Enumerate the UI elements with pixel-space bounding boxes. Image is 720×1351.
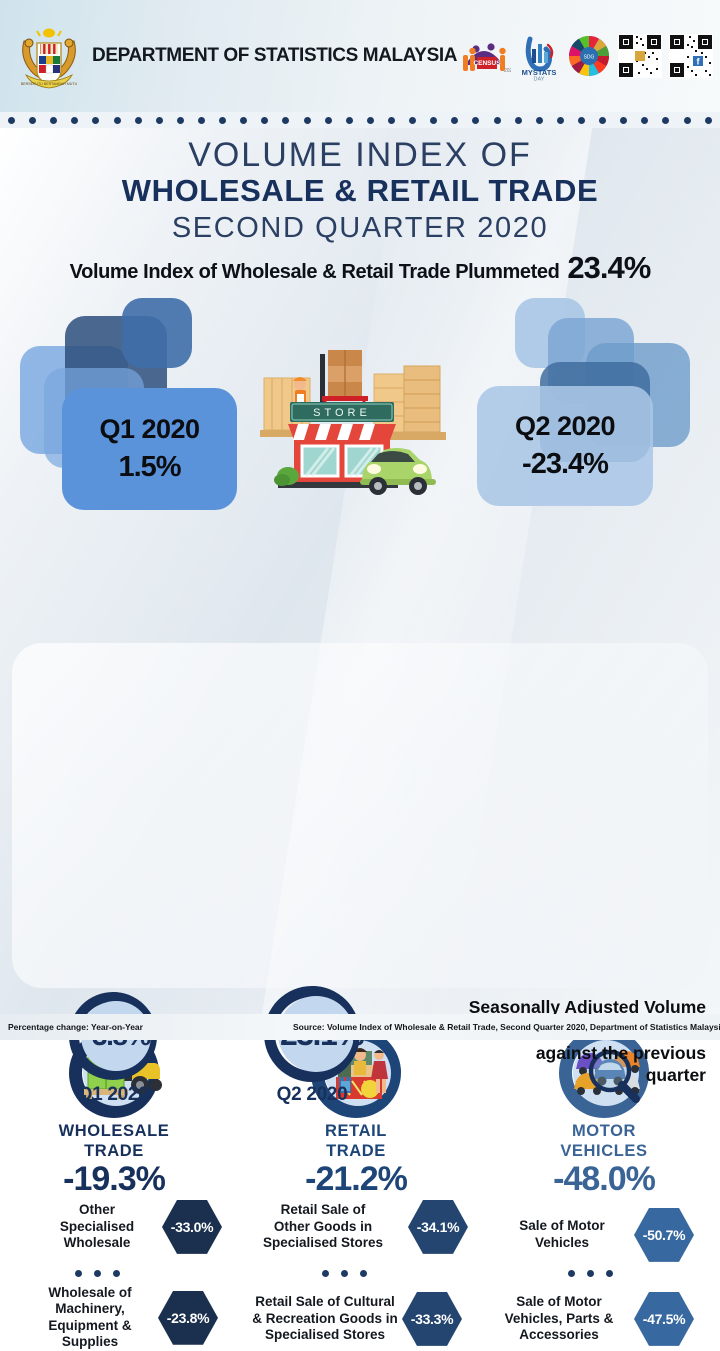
subcategory-row: Sale of Motor Vehicles, Parts & Accessor… xyxy=(484,1291,706,1347)
divider-dot xyxy=(135,117,142,124)
svg-text:CENSUS: CENSUS xyxy=(474,60,502,67)
separator-dots xyxy=(75,1270,120,1277)
q1-label: Q1 2020 xyxy=(99,414,199,445)
divider-dot xyxy=(325,117,332,124)
dot xyxy=(113,1270,120,1277)
subcategory-hexagon: -33.0% xyxy=(162,1199,222,1255)
subcategory-value: -50.7% xyxy=(643,1227,686,1243)
divider-dot xyxy=(684,117,691,124)
subcategory-row: Retail Sale of Other Goods in Specialise… xyxy=(240,1199,475,1255)
quarter-comparison: Q1 2020 1.5% xyxy=(0,298,720,513)
svg-text:2020: 2020 xyxy=(504,68,511,74)
header-logo-group: CENSUS 2020 MYSTATS DAY xyxy=(457,30,720,82)
title-block: VOLUME INDEX OF WHOLESALE & RETAIL TRADE… xyxy=(0,128,720,286)
label-line: Vehicles xyxy=(492,1235,632,1251)
subcategory-label: Other Specialised Wholesale xyxy=(36,1202,158,1251)
sa-text-line: quarter xyxy=(388,1064,706,1087)
label-line: Vehicles, Parts & xyxy=(484,1311,634,1327)
label-line: Machinery, xyxy=(26,1301,154,1317)
seasonally-adjusted-text: Seasonally Adjusted Volume Index plunged… xyxy=(388,996,706,1087)
q2-label: Q2 2020 xyxy=(515,411,615,442)
dot xyxy=(94,1270,101,1277)
divider-dot xyxy=(515,117,522,124)
title-line-1: VOLUME INDEX OF xyxy=(0,136,720,174)
divider-dot xyxy=(557,117,564,124)
dot xyxy=(75,1270,82,1277)
category-name-line2: TRADE xyxy=(0,1143,234,1161)
qr-code-2: f xyxy=(669,34,713,78)
label-line: Specialised Stores xyxy=(240,1235,406,1251)
headline-row: Volume Index of Wholesale & Retail Trade… xyxy=(0,250,720,286)
footer-note: Percentage change: Year-on-Year xyxy=(0,1022,143,1032)
divider-dot xyxy=(494,117,501,124)
divider-dot xyxy=(599,117,606,124)
subcategory-label: Retail Sale of Other Goods in Specialise… xyxy=(240,1202,406,1251)
infographic-body: VOLUME INDEX OF WHOLESALE & RETAIL TRADE… xyxy=(0,128,720,1040)
label-line: Equipment & xyxy=(26,1318,154,1334)
divider-dot xyxy=(156,117,163,124)
label-line: Sale of Motor xyxy=(492,1218,632,1234)
subcategory-value: -34.1% xyxy=(417,1219,460,1235)
divider-dot xyxy=(71,117,78,124)
label-line: Supplies xyxy=(26,1334,154,1350)
subcategory-hexagon: -34.1% xyxy=(408,1199,468,1255)
subcategory-value: -33.0% xyxy=(171,1219,214,1235)
store-warehouse-car-illustration: STORE xyxy=(252,336,452,496)
mystats-day-logo: MYSTATS DAY xyxy=(518,31,560,81)
divider-dot xyxy=(472,117,479,124)
divider-dot xyxy=(282,117,289,124)
footer-source: Source: Volume Index of Wholesale & Reta… xyxy=(293,1022,720,1032)
divider-dot xyxy=(346,117,353,124)
divider-dot xyxy=(662,117,669,124)
label-line: Wholesale of xyxy=(26,1285,154,1301)
page-header: BERSEKUTU BERTAMBAH MUTU DEPARTMENT OF S… xyxy=(0,0,720,112)
divider-dot xyxy=(29,117,36,124)
category-name-line2: TRADE xyxy=(236,1143,476,1161)
page-footer: Percentage change: Year-on-Year Source: … xyxy=(0,1014,720,1040)
subcategory-value: -47.5% xyxy=(643,1311,686,1327)
divider-dot xyxy=(219,117,226,124)
subcategory-row: Sale of Motor Vehicles -50.7% xyxy=(492,1207,706,1263)
subcategory-hexagon: -23.8% xyxy=(158,1290,218,1346)
headline-text: Volume Index of Wholesale & Retail Trade… xyxy=(70,261,560,284)
separator-dots xyxy=(322,1270,367,1277)
q2-value: -23.4% xyxy=(522,448,608,481)
dot xyxy=(568,1270,575,1277)
divider-dot xyxy=(304,117,311,124)
label-line: Other Goods in xyxy=(240,1219,406,1235)
category-name-line1: RETAIL xyxy=(236,1123,476,1141)
divider-dot xyxy=(620,117,627,124)
category-value: -48.0% xyxy=(484,1162,720,1198)
category-value: -19.3% xyxy=(0,1162,234,1198)
subcategory-value: -23.8% xyxy=(167,1310,210,1326)
divider-dot xyxy=(261,117,268,124)
divider-dot xyxy=(367,117,374,124)
svg-text:STORE: STORE xyxy=(313,407,371,419)
divider-dot xyxy=(50,117,57,124)
divider-dot xyxy=(8,117,15,124)
category-name-line1: WHOLESALE xyxy=(0,1123,234,1141)
seasonally-adjusted-q1: -3.8% Q1 2020 xyxy=(48,990,178,1106)
divider-dot xyxy=(536,117,543,124)
subcategory-hexagon: -50.7% xyxy=(634,1207,694,1263)
label-line: Specialised xyxy=(36,1219,158,1235)
headline-value: 23.4% xyxy=(567,250,650,286)
subcategory-row: Wholesale of Machinery, Equipment & Supp… xyxy=(26,1285,236,1351)
svg-text:DAY: DAY xyxy=(534,77,545,82)
dot xyxy=(322,1270,329,1277)
label-line: Specialised Stores xyxy=(234,1327,416,1343)
divider-dot xyxy=(705,117,712,124)
subcategory-label: Sale of Motor Vehicles, Parts & Accessor… xyxy=(484,1294,634,1343)
divider-dot xyxy=(240,117,247,124)
subcategory-label: Wholesale of Machinery, Equipment & Supp… xyxy=(26,1285,154,1351)
svg-text:SDG: SDG xyxy=(584,55,595,61)
dotted-divider xyxy=(0,112,720,128)
malaysia-coat-of-arms-icon: BERSEKUTU BERTAMBAH MUTU xyxy=(10,23,88,89)
q2-sa-caption: Q2 2020 xyxy=(232,1084,392,1106)
census-2020-logo: CENSUS 2020 xyxy=(457,31,511,81)
divider-dot xyxy=(409,117,416,124)
title-line-2: WHOLESALE & RETAIL TRADE xyxy=(0,174,720,209)
label-line: Retail Sale of xyxy=(240,1202,406,1218)
divider-dot xyxy=(388,117,395,124)
category-panel xyxy=(12,643,708,988)
svg-text:BERSEKUTU BERTAMBAH MUTU: BERSEKUTU BERTAMBAH MUTU xyxy=(21,82,78,86)
subcategory-value: -33.3% xyxy=(411,1311,454,1327)
subcategory-row: Retail Sale of Cultural & Recreation Goo… xyxy=(234,1291,476,1347)
category-value: -21.2% xyxy=(236,1162,476,1198)
department-title: DEPARTMENT OF STATISTICS MALAYSIA xyxy=(92,45,457,67)
subcategory-row: Other Specialised Wholesale -33.0% xyxy=(36,1199,236,1255)
divider-dot xyxy=(177,117,184,124)
q2-card: Q2 2020 -23.4% xyxy=(477,386,653,506)
category-name-line2: VEHICLES xyxy=(484,1143,720,1161)
subcategory-label: Sale of Motor Vehicles xyxy=(492,1218,632,1251)
dot xyxy=(587,1270,594,1277)
label-line: Wholesale xyxy=(36,1235,158,1251)
label-line: Retail Sale of Cultural xyxy=(234,1294,416,1310)
qr-code-1 xyxy=(618,34,662,78)
q1-value: 1.5% xyxy=(118,451,180,484)
title-line-3: SECOND QUARTER 2020 xyxy=(0,209,720,248)
q1-deco-square-c xyxy=(122,298,192,368)
subcategory-hexagon: -47.5% xyxy=(634,1291,694,1347)
sdg-wheel-logo: SDG xyxy=(567,34,611,78)
label-line: Other xyxy=(36,1202,158,1218)
label-line: Sale of Motor xyxy=(484,1294,634,1310)
divider-dot xyxy=(641,117,648,124)
dot xyxy=(606,1270,613,1277)
label-line: Accessories xyxy=(484,1327,634,1343)
divider-dot xyxy=(451,117,458,124)
divider-dot xyxy=(114,117,121,124)
category-name-line1: MOTOR xyxy=(484,1123,720,1141)
dot xyxy=(360,1270,367,1277)
q1-card: Q1 2020 1.5% xyxy=(62,388,237,510)
subcategory-label: Retail Sale of Cultural & Recreation Goo… xyxy=(234,1294,416,1343)
divider-dot xyxy=(578,117,585,124)
dot xyxy=(341,1270,348,1277)
divider-dot xyxy=(198,117,205,124)
divider-dot xyxy=(430,117,437,124)
q1-sa-caption: Q1 2020 xyxy=(48,1084,178,1106)
divider-dot xyxy=(92,117,99,124)
seasonally-adjusted-q2: -23.1% Q2 2020 xyxy=(232,984,392,1106)
sa-text-line: against the previous xyxy=(388,1042,706,1065)
label-line: & Recreation Goods in xyxy=(234,1311,416,1327)
separator-dots xyxy=(568,1270,613,1277)
